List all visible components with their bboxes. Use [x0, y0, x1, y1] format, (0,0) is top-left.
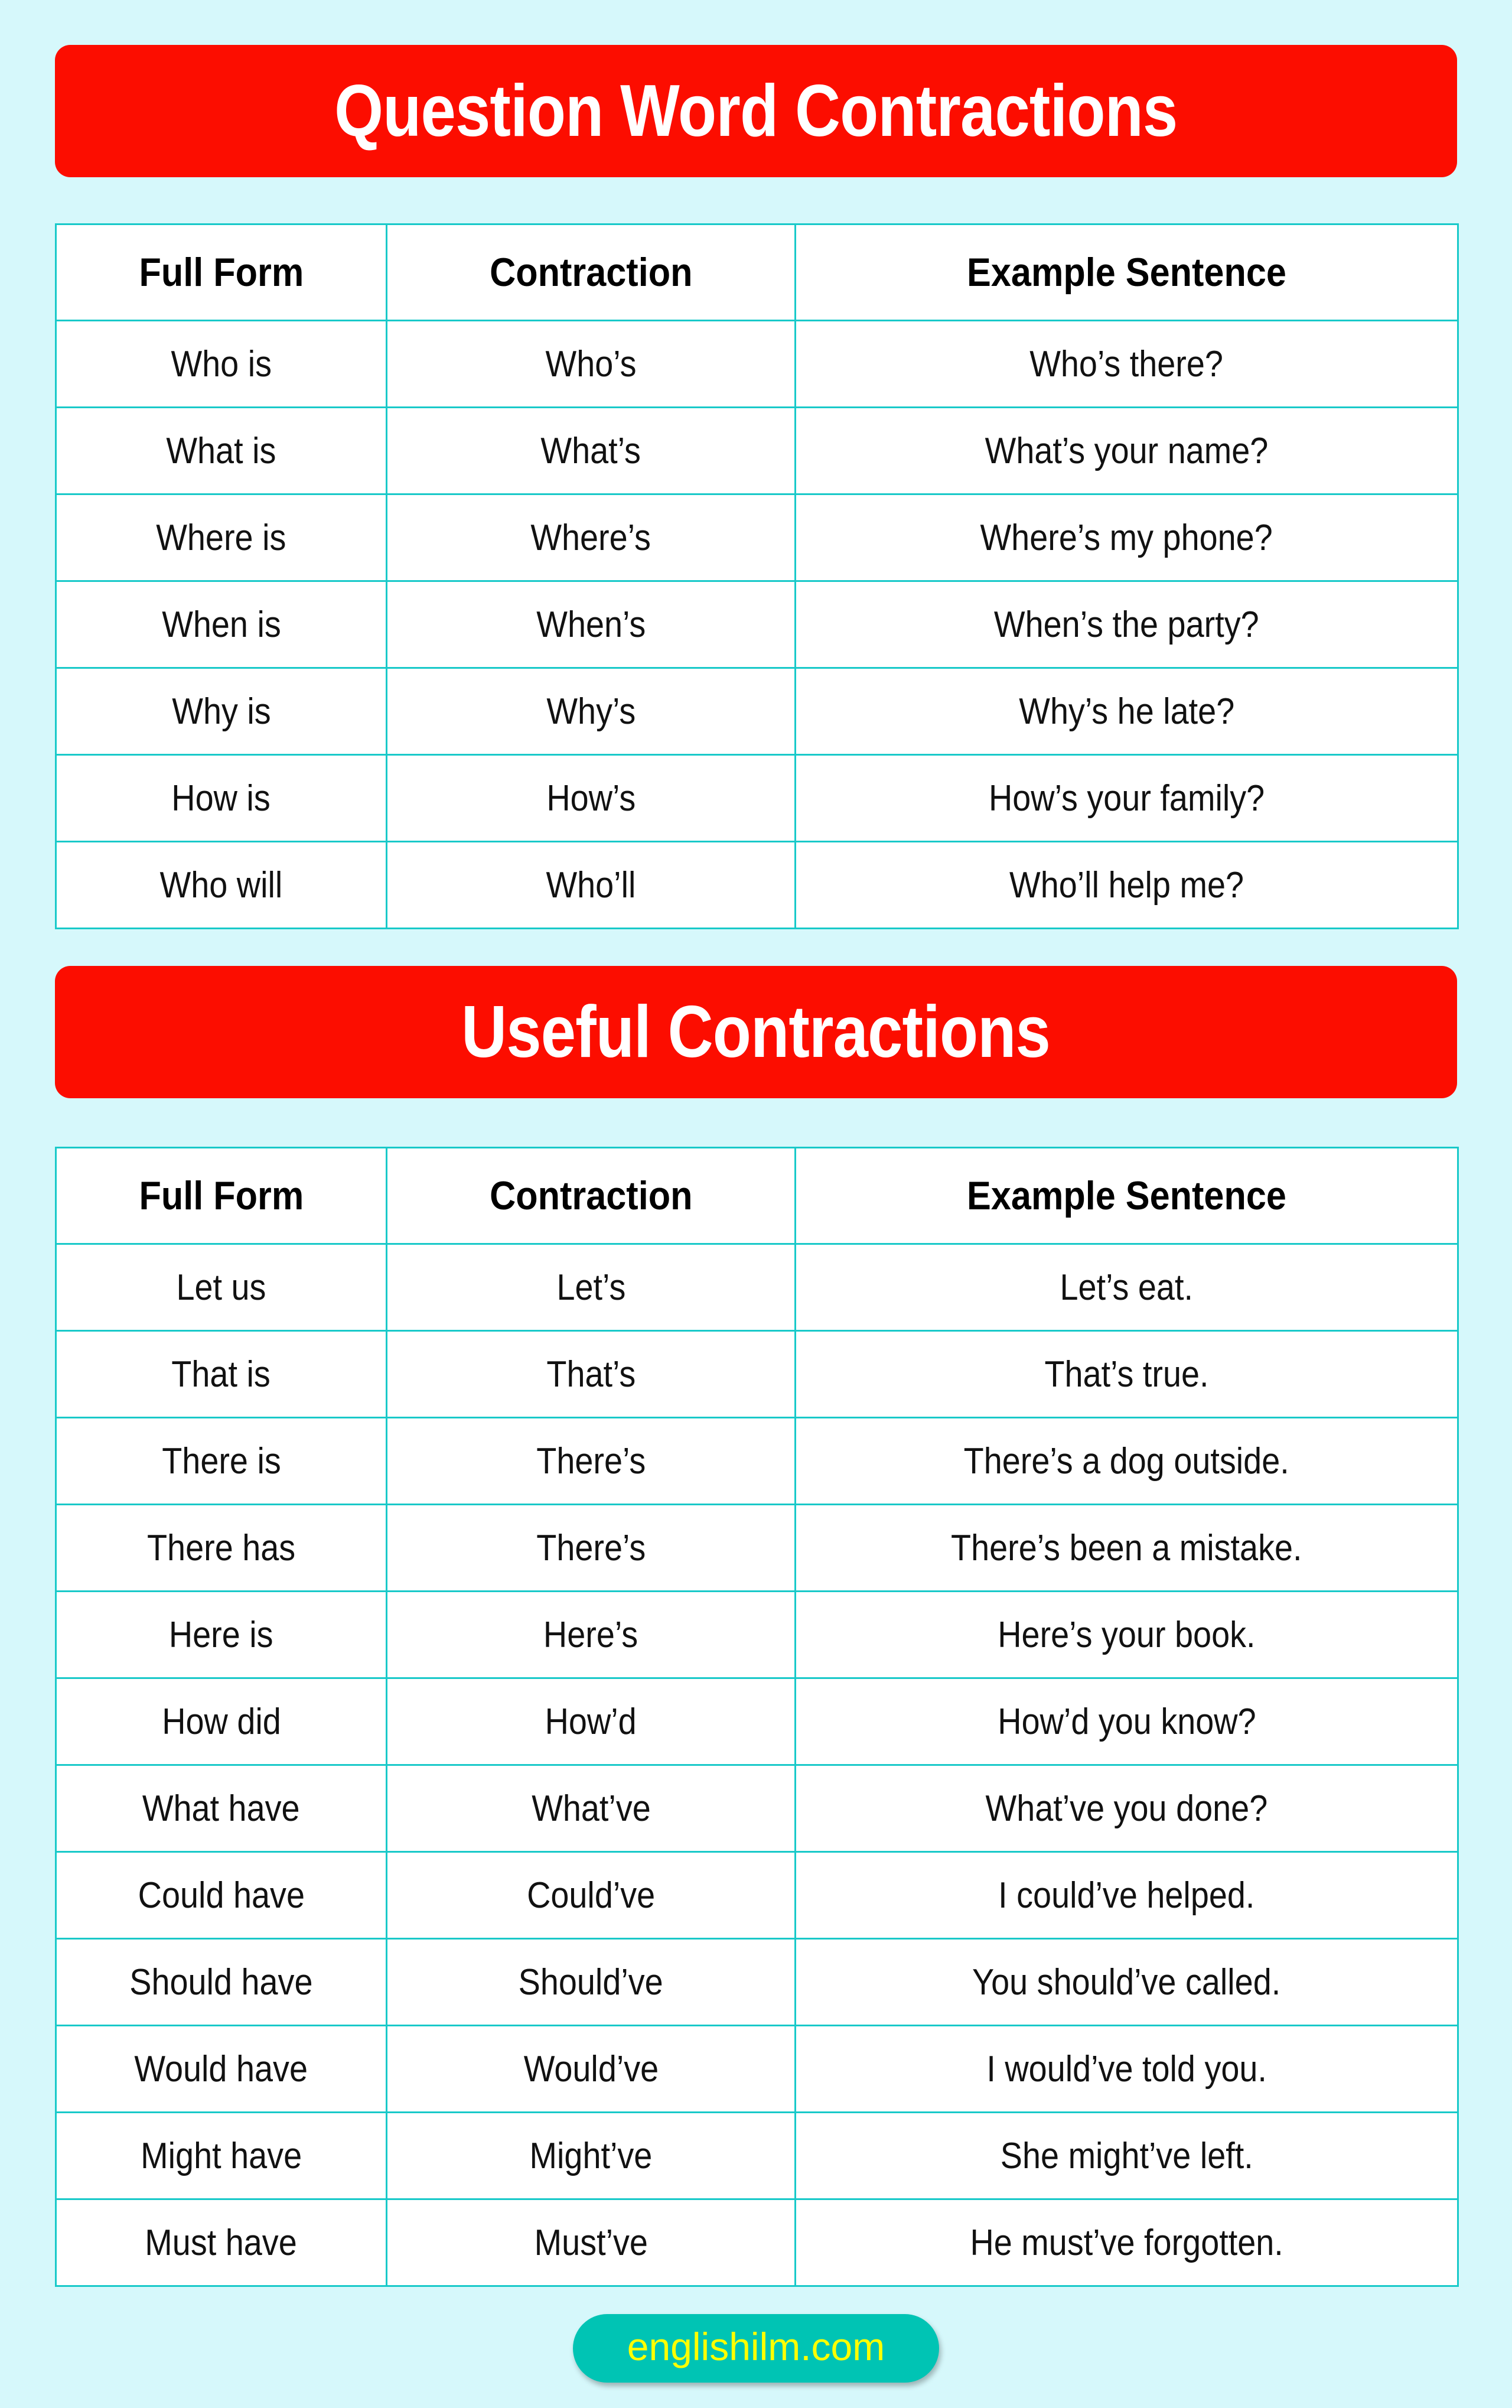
cell-text: You should’ve called. [972, 1961, 1280, 2003]
cell-text: Who will [160, 864, 283, 906]
cell-example: Why’s he late? [796, 668, 1458, 755]
cell-text: Who’ll [546, 864, 636, 906]
cell-text: Let us [176, 1267, 266, 1309]
cell-full-form: Must have [56, 2199, 387, 2286]
cell-text: She might’ve left. [1000, 2135, 1253, 2177]
cell-contraction: How’s [387, 755, 796, 842]
cell-contraction: How’d [387, 1678, 796, 1765]
cell-example: You should’ve called. [796, 1939, 1458, 2026]
cell-full-form: Might have [56, 2113, 387, 2199]
cell-text: Why’s he late? [1019, 691, 1234, 733]
table-row: Who is Who’s Who’s there? [56, 321, 1458, 408]
cell-text: How’d you know? [998, 1701, 1256, 1743]
cell-text: There has [147, 1527, 295, 1569]
cell-text: Where’s my phone? [980, 517, 1273, 559]
cell-text: What’s your name? [985, 430, 1269, 472]
cell-text: Let’s [556, 1267, 625, 1309]
cell-example: I would’ve told you. [796, 2026, 1458, 2113]
cell-full-form: Where is [56, 494, 387, 581]
cell-contraction: What’s [387, 408, 796, 494]
cell-text: Here is [169, 1614, 273, 1656]
cell-text: There’s a dog outside. [964, 1440, 1289, 1482]
table-header-row: Full Form Contraction Example Sentence [56, 224, 1458, 321]
table-row: Here is Here’s Here’s your book. [56, 1592, 1458, 1678]
cell-text: Would have [135, 2048, 308, 2090]
cell-text: Who’s there? [1030, 343, 1224, 385]
cell-full-form: Would have [56, 2026, 387, 2113]
cell-full-form: What have [56, 1765, 387, 1852]
cell-contraction: That’s [387, 1331, 796, 1418]
table-row: Why is Why’s Why’s he late? [56, 668, 1458, 755]
cell-text: Could’ve [527, 1875, 655, 1916]
cell-full-form: What is [56, 408, 387, 494]
cell-text: I could’ve helped. [998, 1875, 1254, 1916]
cell-text: Here’s your book. [998, 1614, 1255, 1656]
cell-text: How’s your family? [989, 777, 1265, 819]
cell-text: What’ve [532, 1788, 651, 1830]
cell-contraction: There’s [387, 1418, 796, 1505]
cell-text: Might’ve [530, 2135, 653, 2177]
section-banner-question-word: Question Word Contractions [55, 45, 1457, 177]
table-row: Where is Where’s Where’s my phone? [56, 494, 1458, 581]
cell-text: Should have [129, 1961, 312, 2003]
cell-contraction: Who’ll [387, 842, 796, 929]
cell-contraction: Why’s [387, 668, 796, 755]
cell-text: How is [172, 777, 271, 819]
cell-text: Where is [156, 517, 286, 559]
table-header-row: Full Form Contraction Example Sentence [56, 1148, 1458, 1244]
column-header-example-sentence: Example Sentence [796, 1148, 1458, 1244]
cell-full-form: How did [56, 1678, 387, 1765]
table-row: What is What’s What’s your name? [56, 408, 1458, 494]
cell-example: How’d you know? [796, 1678, 1458, 1765]
cell-text: Who’s [545, 343, 636, 385]
cell-full-form: There has [56, 1505, 387, 1592]
cell-text: I would’ve told you. [986, 2048, 1267, 2090]
cell-text: When is [162, 604, 281, 646]
cell-text: That is [172, 1353, 271, 1395]
question-word-contractions-table: Full Form Contraction Example Sentence W… [55, 223, 1459, 929]
cell-text: Might have [141, 2135, 302, 2177]
cell-example: What’s your name? [796, 408, 1458, 494]
cell-text: What is [166, 430, 276, 472]
cell-contraction: Would’ve [387, 2026, 796, 2113]
useful-contractions-table: Full Form Contraction Example Sentence L… [55, 1147, 1459, 2287]
cell-contraction: Might’ve [387, 2113, 796, 2199]
cell-example: Where’s my phone? [796, 494, 1458, 581]
cell-text: Here’s [543, 1614, 638, 1656]
cell-example: I could’ve helped. [796, 1852, 1458, 1939]
cell-text: How’s [546, 777, 636, 819]
cell-example: Here’s your book. [796, 1592, 1458, 1678]
cell-contraction: Must’ve [387, 2199, 796, 2286]
table-row: Would have Would’ve I would’ve told you. [56, 2026, 1458, 2113]
column-header-full-form: Full Form [56, 224, 387, 321]
cell-text: There’s been a mistake. [951, 1527, 1302, 1569]
cell-contraction: Here’s [387, 1592, 796, 1678]
cell-text: There’s [536, 1527, 646, 1569]
cell-full-form: Should have [56, 1939, 387, 2026]
column-header-contraction: Contraction [387, 1148, 796, 1244]
cell-example: When’s the party? [796, 581, 1458, 668]
site-url-badge[interactable]: englishilm.com [573, 2314, 939, 2383]
column-header-label: Full Form [139, 1173, 304, 1219]
cell-text: Should’ve [519, 1961, 663, 2003]
cell-text: What have [142, 1788, 300, 1830]
column-header-label: Full Form [139, 249, 304, 295]
column-header-example-sentence: Example Sentence [796, 224, 1458, 321]
cell-text: Who is [171, 343, 272, 385]
cell-full-form: Let us [56, 1244, 387, 1331]
cell-text: That’s [546, 1353, 636, 1395]
cell-contraction: Should’ve [387, 1939, 796, 2026]
cell-text: Must have [145, 2222, 297, 2264]
cell-full-form: Who is [56, 321, 387, 408]
cell-full-form: Why is [56, 668, 387, 755]
table-row: When is When’s When’s the party? [56, 581, 1458, 668]
cell-text: What’ve you done? [986, 1788, 1268, 1830]
table-row: Who will Who’ll Who’ll help me? [56, 842, 1458, 929]
cell-text: Why’s [546, 691, 636, 733]
cell-example: What’ve you done? [796, 1765, 1458, 1852]
cell-example: Who’ll help me? [796, 842, 1458, 929]
table-row: There has There’s There’s been a mistake… [56, 1505, 1458, 1592]
table-row: Should have Should’ve You should’ve call… [56, 1939, 1458, 2026]
table-row: Let us Let’s Let’s eat. [56, 1244, 1458, 1331]
column-header-label: Example Sentence [967, 249, 1286, 295]
cell-example: Who’s there? [796, 321, 1458, 408]
cell-text: Let’s eat. [1060, 1267, 1193, 1309]
cell-full-form: There is [56, 1418, 387, 1505]
cell-full-form: Who will [56, 842, 387, 929]
cell-text: Who’ll help me? [1009, 864, 1244, 906]
cell-example: How’s your family? [796, 755, 1458, 842]
cell-example: She might’ve left. [796, 2113, 1458, 2199]
infographic-page: Question Word Contractions Full Form Con… [0, 45, 1512, 2408]
column-header-contraction: Contraction [387, 224, 796, 321]
table-row: Might have Might’ve She might’ve left. [56, 2113, 1458, 2199]
cell-text: Would’ve [523, 2048, 658, 2090]
cell-contraction: Could’ve [387, 1852, 796, 1939]
cell-text: Where’s [531, 517, 651, 559]
cell-contraction: What’ve [387, 1765, 796, 1852]
cell-contraction: Let’s [387, 1244, 796, 1331]
cell-text: What’s [541, 430, 641, 472]
cell-full-form: Here is [56, 1592, 387, 1678]
cell-full-form: How is [56, 755, 387, 842]
cell-full-form: That is [56, 1331, 387, 1418]
column-header-label: Example Sentence [967, 1173, 1286, 1219]
cell-full-form: When is [56, 581, 387, 668]
section-banner-useful-contractions: Useful Contractions [55, 966, 1457, 1098]
cell-text: Why is [172, 691, 271, 733]
cell-text: There’s [536, 1440, 646, 1482]
cell-text: He must’ve forgotten. [970, 2222, 1283, 2264]
table-row: How did How’d How’d you know? [56, 1678, 1458, 1765]
cell-example: That’s true. [796, 1331, 1458, 1418]
cell-text: How did [162, 1701, 281, 1743]
table-row: How is How’s How’s your family? [56, 755, 1458, 842]
table-row: Must have Must’ve He must’ve forgotten. [56, 2199, 1458, 2286]
cell-text: When’s the party? [994, 604, 1259, 646]
table-row: What have What’ve What’ve you done? [56, 1765, 1458, 1852]
cell-contraction: There’s [387, 1505, 796, 1592]
cell-contraction: Who’s [387, 321, 796, 408]
cell-text: Could have [138, 1875, 304, 1916]
cell-text: When’s [536, 604, 646, 646]
table-row: There is There’s There’s a dog outside. [56, 1418, 1458, 1505]
cell-text: Must’ve [534, 2222, 647, 2264]
section-title: Useful Contractions [462, 995, 1051, 1069]
column-header-label: Contraction [490, 1173, 692, 1219]
column-header-label: Contraction [490, 249, 692, 295]
cell-example: He must’ve forgotten. [796, 2199, 1458, 2286]
column-header-full-form: Full Form [56, 1148, 387, 1244]
footer: englishilm.com [55, 2314, 1457, 2383]
section-title: Question Word Contractions [334, 74, 1177, 148]
cell-text: How’d [545, 1701, 637, 1743]
cell-example: Let’s eat. [796, 1244, 1458, 1331]
cell-contraction: When’s [387, 581, 796, 668]
cell-full-form: Could have [56, 1852, 387, 1939]
cell-text: That’s true. [1044, 1353, 1208, 1395]
table-row: Could have Could’ve I could’ve helped. [56, 1852, 1458, 1939]
cell-text: There is [162, 1440, 281, 1482]
table-row: That is That’s That’s true. [56, 1331, 1458, 1418]
cell-contraction: Where’s [387, 494, 796, 581]
cell-example: There’s been a mistake. [796, 1505, 1458, 1592]
cell-example: There’s a dog outside. [796, 1418, 1458, 1505]
